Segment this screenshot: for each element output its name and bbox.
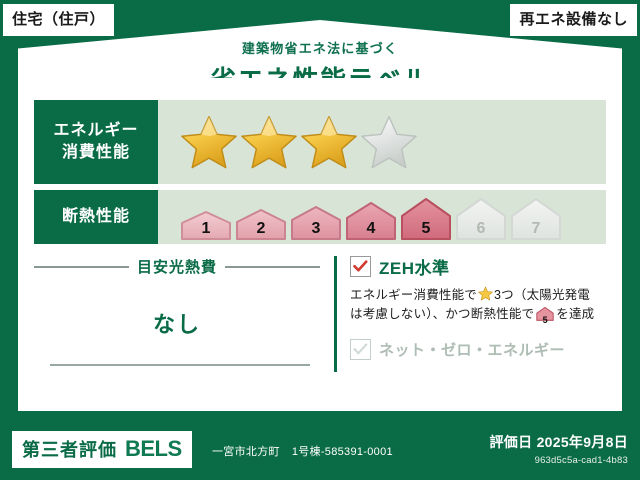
insulation-level-7: 7 <box>510 193 562 241</box>
insulation-level-number: 2 <box>235 220 287 238</box>
insulation-level-3: 3 <box>290 199 342 241</box>
estimated-cost-value: なし <box>34 307 320 339</box>
energy-label-line2: 消費性能 <box>62 142 130 164</box>
star-inline-icon <box>478 286 493 301</box>
check-icon-disabled <box>353 343 368 356</box>
insulation-inline-number: 5 <box>536 314 554 328</box>
star-empty-icon <box>360 114 418 170</box>
insulation-level-number: 5 <box>400 220 452 238</box>
zeh-heading: ZEH水準 <box>350 254 606 279</box>
check-icon <box>353 260 368 273</box>
zeh-block: ZEH水準 エネルギー消費性能で3つ（太陽光発電 は考慮しない）、かつ断熱性能で… <box>320 254 606 399</box>
zeh-checkbox[interactable] <box>350 256 371 277</box>
estimated-cost-label: 目安光熱費 <box>137 256 217 277</box>
rule-right <box>225 266 320 268</box>
address-text: 一宮市北方町 <box>212 446 280 458</box>
zeh-description: エネルギー消費性能で3つ（太陽光発電 は考慮しない）、かつ断熱性能で5を達成 <box>350 286 606 328</box>
star-filled-icon <box>300 114 358 170</box>
footer: 第三者評価 BELS 一宮市北方町1号棟-585391-0001 評価日 202… <box>0 418 640 480</box>
net-zero-energy-label: ネット・ゼロ・エネルギー <box>379 339 565 360</box>
building-type-badge: 住宅（住戸） <box>3 4 114 36</box>
zeh-title: ZEH水準 <box>379 254 450 279</box>
renewable-equipment-badge: 再エネ設備なし <box>510 4 637 36</box>
evaluation-hash: 963d5c5a-cad1-4b83 <box>489 455 628 466</box>
star-filled-icon <box>240 114 298 170</box>
label-root: 住宅（住戸） 再エネ設備なし 建築物省エネ法に基づく 省エネ性能ラベル エネルギ… <box>0 0 640 480</box>
insulation-level-2: 2 <box>235 201 287 241</box>
insulation-level-number: 4 <box>345 220 397 238</box>
estimated-utility-cost-block: 目安光熱費 なし <box>34 254 320 399</box>
bels-logo: 第三者評価 BELS <box>12 431 192 468</box>
zeh-desc-part3: は考慮しない）、かつ断熱性能で <box>350 307 534 321</box>
cost-bottom-rule <box>50 364 310 366</box>
insulation-performance-body: 1 2 <box>158 190 606 244</box>
label-card: エネルギー 消費性能 <box>18 78 622 411</box>
zeh-desc-part2: 3つ（太陽光発電 <box>494 288 590 302</box>
energy-performance-row: エネルギー 消費性能 <box>34 100 606 184</box>
energy-performance-label: エネルギー 消費性能 <box>34 100 158 184</box>
insulation-level-number: 6 <box>455 220 507 238</box>
insulation-level-1: 1 <box>180 203 232 241</box>
insulation-level-4: 4 <box>345 196 397 241</box>
property-address: 一宮市北方町1号棟-585391-0001 <box>212 443 393 459</box>
insulation-level-number: 7 <box>510 220 562 238</box>
zeh-desc-part4: を達成 <box>556 307 594 321</box>
insulation-performance-label: 断熱性能 <box>34 190 158 244</box>
rule-left <box>34 266 129 268</box>
estimated-cost-heading: 目安光熱費 <box>34 256 320 277</box>
energy-label-line1: エネルギー <box>53 120 138 142</box>
insulation-level-number: 3 <box>290 220 342 238</box>
insulation-inline-badge: 5 <box>536 306 554 327</box>
net-zero-energy-row: ネット・ゼロ・エネルギー <box>350 339 606 360</box>
star-rating <box>180 114 418 170</box>
insulation-label-text: 断熱性能 <box>62 206 130 228</box>
building-number: 1号棟-585391-0001 <box>292 446 393 458</box>
evaluation-info: 評価日 2025年9月8日 963d5c5a-cad1-4b83 <box>489 432 628 466</box>
zeh-desc-part1: エネルギー消費性能で <box>350 288 477 302</box>
evaluation-date: 評価日 2025年9月8日 <box>489 432 628 452</box>
insulation-level-number: 1 <box>180 220 232 238</box>
insulation-level-scale: 1 2 <box>180 193 562 241</box>
bels-logo-en: BELS <box>125 436 182 462</box>
energy-performance-body <box>158 100 606 184</box>
insulation-performance-row: 断熱性能 1 <box>34 190 606 244</box>
insulation-level-6: 6 <box>455 193 507 241</box>
bels-logo-jp: 第三者評価 <box>22 436 117 462</box>
insulation-level-5: 5 <box>400 193 452 241</box>
net-zero-energy-checkbox[interactable] <box>350 339 371 360</box>
lower-section: 目安光熱費 なし ZEH水準 エネルギー消費性能で3つ（太 <box>34 254 606 399</box>
star-filled-icon <box>180 114 238 170</box>
